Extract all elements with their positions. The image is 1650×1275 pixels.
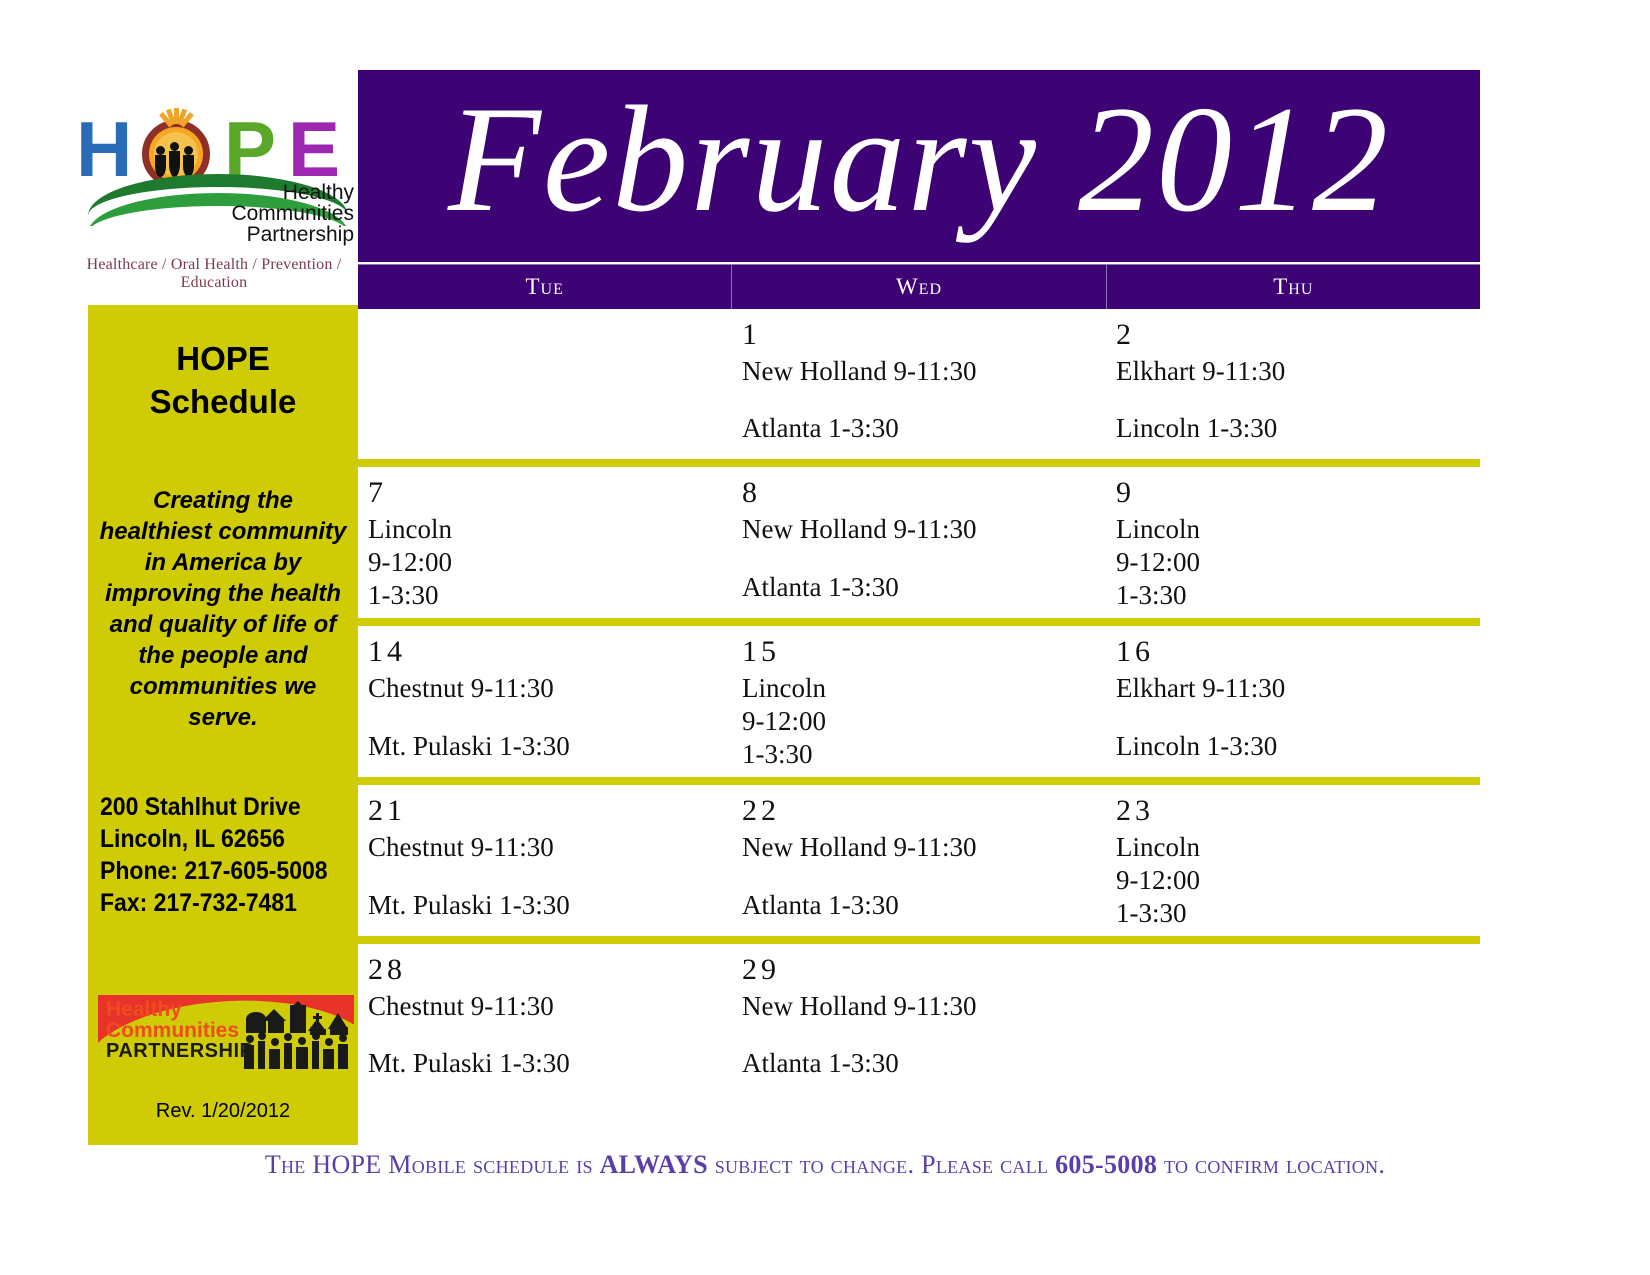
day-event-morning: Lincoln 9-12:00 1-3:30 (742, 672, 1106, 771)
day-number: 22 (742, 793, 1106, 829)
calendar-week-row: 7 Lincoln 9-12:00 1-3:30 8 New Holland 9… (358, 467, 1480, 618)
day-event-afternoon: Mt. Pulaski 1-3:30 (368, 730, 570, 763)
logo-subtitle: Healthy Communities Partnership (194, 182, 354, 245)
sidebar: HOPE Schedule Creating the healthiest co… (88, 305, 358, 1145)
day-event-morning: New Holland 9-11:30 (742, 355, 1106, 388)
day-number: 9 (1116, 475, 1480, 511)
calendar-day-cell[interactable]: 29 New Holland 9-11:30 Atlanta 1-3:30 (732, 944, 1106, 1094)
hope-logo: H O P E Healthy Communities (74, 96, 354, 281)
calendar-week-row: 14 Chestnut 9-11:30 Mt. Pulaski 1-3:30 1… (358, 626, 1480, 777)
day-event-morning: New Holland 9-11:30 (742, 990, 1106, 1023)
page-title: February 2012 (358, 70, 1480, 262)
week-separator (358, 459, 1480, 467)
healthy-communities-partnership-logo: Healthy Communities PARTNERSHIP (98, 995, 354, 1069)
day-event-morning: New Holland 9-11:30 (742, 831, 1106, 864)
day-of-week-header: Tue Wed Thu (358, 264, 1480, 309)
day-number: 28 (368, 952, 732, 988)
day-event-morning: New Holland 9-11:30 (742, 513, 1106, 546)
day-event-morning: Chestnut 9-11:30 (368, 672, 732, 705)
day-event-morning: Elkhart 9-11:30 (1116, 672, 1480, 705)
dow-tue: Tue (358, 265, 731, 309)
day-event-afternoon: Atlanta 1-3:30 (742, 889, 899, 922)
month-header-bar: February 2012 (358, 70, 1480, 262)
day-event-afternoon: Mt. Pulaski 1-3:30 (368, 889, 570, 922)
calendar-day-cell[interactable]: 28 Chestnut 9-11:30 Mt. Pulaski 1-3:30 (358, 944, 732, 1094)
calendar-week-row: 28 Chestnut 9-11:30 Mt. Pulaski 1-3:30 2… (358, 944, 1480, 1094)
logo-sub-line-3: Partnership (194, 224, 354, 245)
calendar-grid: 1 New Holland 9-11:30 Atlanta 1-3:30 2 E… (358, 309, 1480, 1145)
week-separator (358, 618, 1480, 626)
dow-thu: Thu (1106, 265, 1480, 309)
day-number: 16 (1116, 634, 1480, 670)
day-number: 23 (1116, 793, 1480, 829)
calendar-week-row: 21 Chestnut 9-11:30 Mt. Pulaski 1-3:30 2… (358, 785, 1480, 936)
sidebar-contact-info: 200 Stahlhut Drive Lincoln, IL 62656 Pho… (100, 791, 337, 919)
revision-date: Rev. 1/20/2012 (88, 1100, 358, 1123)
day-event-morning: Chestnut 9-11:30 (368, 831, 732, 864)
calendar-week-row: 1 New Holland 9-11:30 Atlanta 1-3:30 2 E… (358, 309, 1480, 459)
dow-wed: Wed (731, 265, 1105, 309)
footer-text-1: The HOPE Mobile schedule is (265, 1150, 600, 1179)
logo-sub-line-2: Communities (194, 203, 354, 224)
sidebar-mission-statement: Creating the healthiest community in Ame… (96, 485, 350, 733)
calendar-day-cell[interactable] (358, 309, 732, 459)
calendar-day-cell[interactable]: 8 New Holland 9-11:30 Atlanta 1-3:30 (732, 467, 1106, 618)
calendar-day-cell[interactable]: 2 Elkhart 9-11:30 Lincoln 1-3:30 (1106, 309, 1480, 459)
day-event-afternoon: Mt. Pulaski 1-3:30 (368, 1047, 570, 1080)
calendar-day-cell[interactable]: 22 New Holland 9-11:30 Atlanta 1-3:30 (732, 785, 1106, 936)
day-event-morning: Lincoln 9-12:00 1-3:30 (1116, 831, 1480, 930)
calendar-day-cell[interactable]: 14 Chestnut 9-11:30 Mt. Pulaski 1-3:30 (358, 626, 732, 777)
week-separator (358, 936, 1480, 944)
calendar-day-cell[interactable] (1106, 944, 1480, 1094)
week-separator (358, 777, 1480, 785)
footer-phone: 605-5008 (1055, 1150, 1157, 1179)
calendar-page: H O P E Healthy Communities (0, 0, 1650, 1275)
day-number: 8 (742, 475, 1106, 511)
sidebar-title: HOPE Schedule (88, 337, 358, 423)
day-event-morning: Lincoln 9-12:00 1-3:30 (1116, 513, 1480, 612)
calendar-day-cell[interactable]: 1 New Holland 9-11:30 Atlanta 1-3:30 (732, 309, 1106, 459)
day-number: 15 (742, 634, 1106, 670)
skyline-icon (242, 999, 352, 1069)
day-event-afternoon: Atlanta 1-3:30 (742, 571, 899, 604)
day-event-morning: Elkhart 9-11:30 (1116, 355, 1480, 388)
day-event-afternoon: Lincoln 1-3:30 (1116, 730, 1277, 763)
calendar-day-cell[interactable]: 16 Elkhart 9-11:30 Lincoln 1-3:30 (1106, 626, 1480, 777)
footer-disclaimer: The HOPE Mobile schedule is ALWAYS subje… (0, 1150, 1650, 1180)
day-number: 1 (742, 317, 1106, 353)
day-number: 21 (368, 793, 732, 829)
footer-text-2: subject to change. Please call (708, 1150, 1055, 1179)
day-event-afternoon: Lincoln 1-3:30 (1116, 412, 1277, 445)
calendar-day-cell[interactable]: 23 Lincoln 9-12:00 1-3:30 (1106, 785, 1480, 936)
calendar-day-cell[interactable]: 7 Lincoln 9-12:00 1-3:30 (358, 467, 732, 618)
logo-tagline: Healthcare / Oral Health / Prevention / … (74, 256, 354, 292)
day-event-afternoon: Atlanta 1-3:30 (742, 1047, 899, 1080)
footer-text-3: to confirm location. (1157, 1150, 1385, 1179)
calendar-day-cell[interactable]: 21 Chestnut 9-11:30 Mt. Pulaski 1-3:30 (358, 785, 732, 936)
footer-always: ALWAYS (600, 1150, 708, 1179)
day-number: 2 (1116, 317, 1480, 353)
day-number: 7 (368, 475, 732, 511)
calendar-day-cell[interactable]: 15 Lincoln 9-12:00 1-3:30 (732, 626, 1106, 777)
day-number: 14 (368, 634, 732, 670)
day-event-morning: Lincoln 9-12:00 1-3:30 (368, 513, 732, 612)
day-number: 29 (742, 952, 1106, 988)
calendar-day-cell[interactable]: 9 Lincoln 9-12:00 1-3:30 (1106, 467, 1480, 618)
day-event-afternoon: Atlanta 1-3:30 (742, 412, 899, 445)
logo-sub-line-1: Healthy (194, 182, 354, 203)
day-event-morning: Chestnut 9-11:30 (368, 990, 732, 1023)
